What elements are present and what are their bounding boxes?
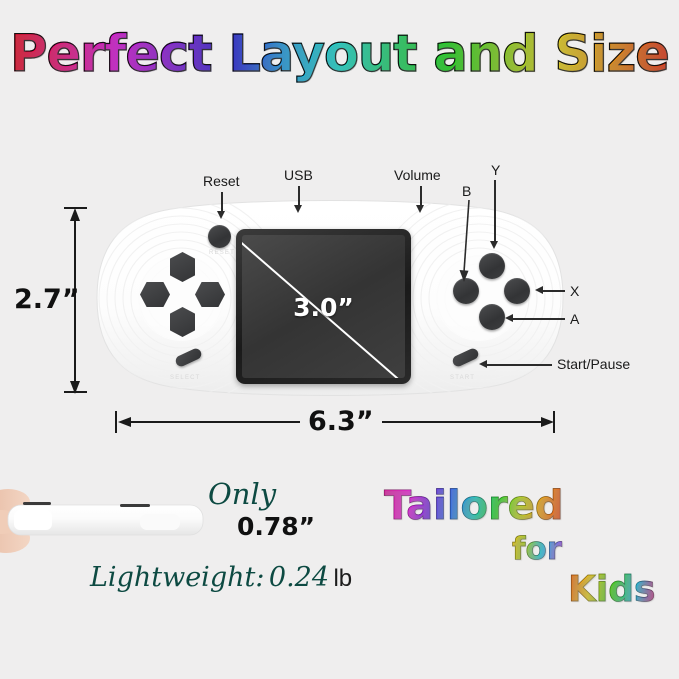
callout-leader-a — [513, 318, 565, 320]
side-port-left — [23, 502, 51, 505]
page-title: Perfect Layout and Size — [0, 26, 679, 84]
select-micro-label: SELECT — [170, 375, 201, 381]
callout-label-usb: USB — [284, 167, 313, 183]
tagline-word-kids: Kids — [568, 569, 655, 610]
infographic-page: Perfect Layout and Size — [0, 0, 679, 679]
callout-label-reset: Reset — [203, 173, 240, 189]
callout-arrow-volume — [416, 205, 424, 213]
callout-arrow-reset — [217, 211, 225, 219]
reset-micro-label: RESET — [209, 250, 235, 256]
callout-arrow-a — [505, 314, 513, 322]
height-dim-label: 2.7” — [14, 284, 80, 315]
callout-leader-volume — [420, 186, 422, 206]
side-button-bump — [140, 514, 180, 530]
callout-leader-y — [494, 180, 496, 242]
side-port-right — [120, 504, 150, 507]
callout-leader-reset — [221, 192, 223, 212]
weight-value: 0.24 — [269, 562, 329, 593]
callout-leader-start-pause — [487, 364, 552, 366]
screen-size-label: 3.0” — [242, 293, 405, 322]
callout-label-b: B — [462, 183, 471, 199]
callout-label-a: A — [570, 311, 579, 327]
callout-label-volume: Volume — [394, 167, 441, 183]
callout-arrow-usb — [294, 205, 302, 213]
side-grip-bump — [14, 510, 52, 530]
callout-label-x: X — [570, 283, 579, 299]
reset-button[interactable] — [208, 225, 231, 248]
width-dim-label: 6.3” — [300, 406, 382, 437]
weight-unit: lb — [333, 565, 352, 592]
a-button[interactable] — [479, 304, 505, 330]
screen-bezel: 3.0” — [236, 229, 411, 384]
callout-leader-b — [455, 200, 485, 286]
only-label: Only — [208, 477, 276, 511]
thickness-value: 0.78” — [237, 512, 315, 541]
start-micro-label: START — [450, 375, 475, 381]
callout-arrow-x — [535, 286, 543, 294]
side-view-with-hand — [0, 480, 230, 570]
callout-label-y: Y — [491, 162, 500, 178]
screen-display: 3.0” — [242, 235, 405, 378]
callout-leader-usb — [298, 186, 300, 206]
x-button[interactable] — [504, 278, 530, 304]
callout-label-start-pause: Start/Pause — [557, 356, 630, 372]
callout-leader-x — [543, 290, 565, 292]
lightweight-label: Lightweight: — [90, 562, 264, 593]
callout-arrow-start-pause — [479, 360, 487, 368]
tagline-word-tailored: Tailored — [384, 483, 564, 529]
width-tick-left — [115, 411, 117, 433]
weight-line: Lightweight: 0.24 lb — [90, 562, 352, 593]
tagline-word-for: for — [512, 531, 562, 567]
callout-arrow-y — [490, 241, 498, 249]
